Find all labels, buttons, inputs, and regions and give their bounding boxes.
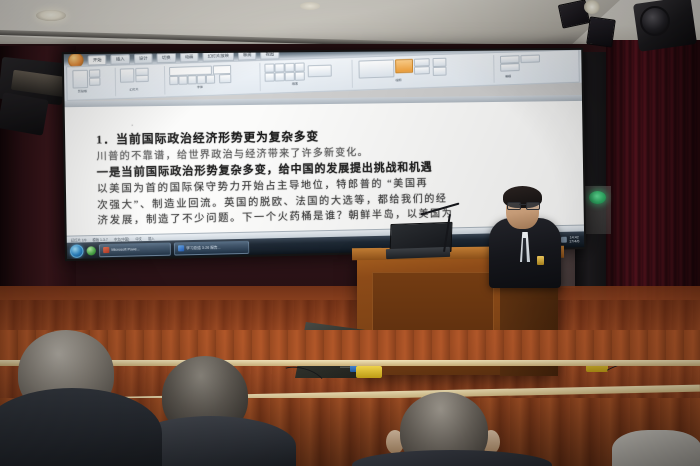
paste-button[interactable] (72, 70, 88, 89)
presenter-name-badge (537, 256, 544, 265)
new-slide-button[interactable] (120, 68, 135, 83)
powerpoint-icon (103, 247, 109, 253)
ribbon-group-label-editing: 编辑 (505, 74, 511, 78)
yellow-power-strip (356, 366, 382, 378)
align-left-button[interactable] (265, 72, 275, 81)
select-button[interactable] (520, 55, 539, 64)
ribbon-tab-2[interactable]: 设计 (134, 53, 153, 64)
ribbon-group-slides[interactable]: 幻灯片 (117, 66, 166, 96)
reset-button[interactable] (135, 75, 148, 83)
ribbon-group-label-slides: 幻灯片 (129, 87, 138, 91)
stage-light-lamp-icon (584, 0, 600, 14)
shapes-gallery[interactable] (358, 59, 394, 78)
ribbon-group-font[interactable]: 字体 (166, 63, 261, 94)
camera-lens-icon (640, 6, 670, 36)
ribbon-group-drawing[interactable]: 绘图 (355, 55, 494, 88)
clock-date: 17/4/6 (569, 239, 579, 243)
italic-button[interactable] (178, 75, 187, 84)
lecture-hall-scene: 开始 插入 设计 切换 动画 幻灯片放映 审阅 视图 剪贴板 (0, 0, 700, 466)
ribbon-tab-5[interactable]: 幻灯片放映 (202, 50, 234, 61)
copy-button[interactable] (89, 77, 100, 86)
powerpoint-ribbon: 开始 插入 设计 切换 动画 幻灯片放映 审阅 视图 剪贴板 (64, 50, 582, 101)
shape-effects-button[interactable] (414, 66, 430, 74)
ceiling-speaker (0, 92, 49, 135)
ribbon-group-clipboard[interactable]: 剪贴板 (69, 68, 116, 98)
underline-button[interactable] (188, 75, 197, 84)
strikethrough-button[interactable] (206, 75, 215, 84)
ribbon-group-label-font: 字体 (197, 85, 203, 89)
bold-button[interactable] (169, 76, 178, 85)
decrease-indent-button[interactable] (285, 63, 295, 72)
convert-smartart-button[interactable] (308, 65, 332, 78)
ribbon-tab-0[interactable]: 开始 (88, 54, 107, 65)
ribbon-tab-4[interactable]: 动画 (180, 51, 199, 62)
align-center-button[interactable] (275, 72, 285, 81)
recessed-downlight-icon (36, 10, 66, 21)
exit-sign-icon (589, 191, 606, 204)
ribbon-group-editing[interactable]: 编辑 (497, 53, 556, 83)
align-right-button[interactable] (285, 72, 295, 81)
ribbon-tab-3[interactable]: 切换 (157, 52, 176, 63)
taskbar-button-powerpoint-label: Microsoft Powe... (111, 247, 139, 252)
ribbon-group-label-paragraph: 段落 (292, 82, 298, 86)
shape-fill-button[interactable] (395, 59, 413, 74)
ribbon-group-label-drawing: 绘图 (395, 78, 401, 82)
taskbar-button-document-label: 学习总结 3-26 报告... (186, 245, 220, 251)
ribbon-tab-7[interactable]: 视图 (260, 50, 279, 60)
status-ime: 中文 (135, 236, 142, 241)
bullets-button[interactable] (264, 63, 274, 72)
replace-button[interactable] (500, 63, 520, 72)
ribbon-tab-1[interactable]: 插入 (111, 54, 130, 65)
glasses-bridge (519, 204, 526, 205)
ribbon-tab-6[interactable]: 审阅 (238, 50, 257, 60)
justify-button[interactable] (295, 71, 305, 80)
ribbon-group-paragraph[interactable]: 段落 (261, 60, 353, 91)
arrange-button[interactable] (433, 67, 447, 76)
taskbar-clock[interactable]: 14:42 17/4/6 (569, 235, 579, 244)
ribbon-group-label-clipboard: 剪贴板 (78, 89, 87, 93)
numbering-button[interactable] (274, 63, 284, 72)
glasses-right-lens (526, 202, 540, 210)
recessed-downlight-secondary-icon (300, 2, 320, 10)
stage-light-secondary-icon (586, 16, 616, 47)
taskbar-button-document[interactable]: 学习总结 3-26 报告... (174, 240, 249, 255)
status-template: 模板 1-3-7 (92, 236, 107, 241)
status-language: 中文(中国) (114, 236, 129, 241)
status-insert-mode: 插入 (148, 235, 155, 240)
increase-indent-button[interactable] (295, 62, 305, 71)
glasses-icon (506, 202, 539, 208)
word-icon (178, 245, 184, 251)
start-button-icon[interactable] (70, 244, 84, 258)
shield-icon[interactable] (561, 237, 567, 243)
quick-launch-media-icon[interactable] (87, 246, 96, 255)
font-color-button[interactable] (219, 74, 231, 83)
shadow-button[interactable] (197, 75, 206, 84)
taskbar-button-powerpoint[interactable]: Microsoft Powe... (99, 242, 171, 257)
audience-member-4 (612, 430, 700, 466)
status-slide-number: 幻灯片 1/9 (71, 237, 86, 242)
